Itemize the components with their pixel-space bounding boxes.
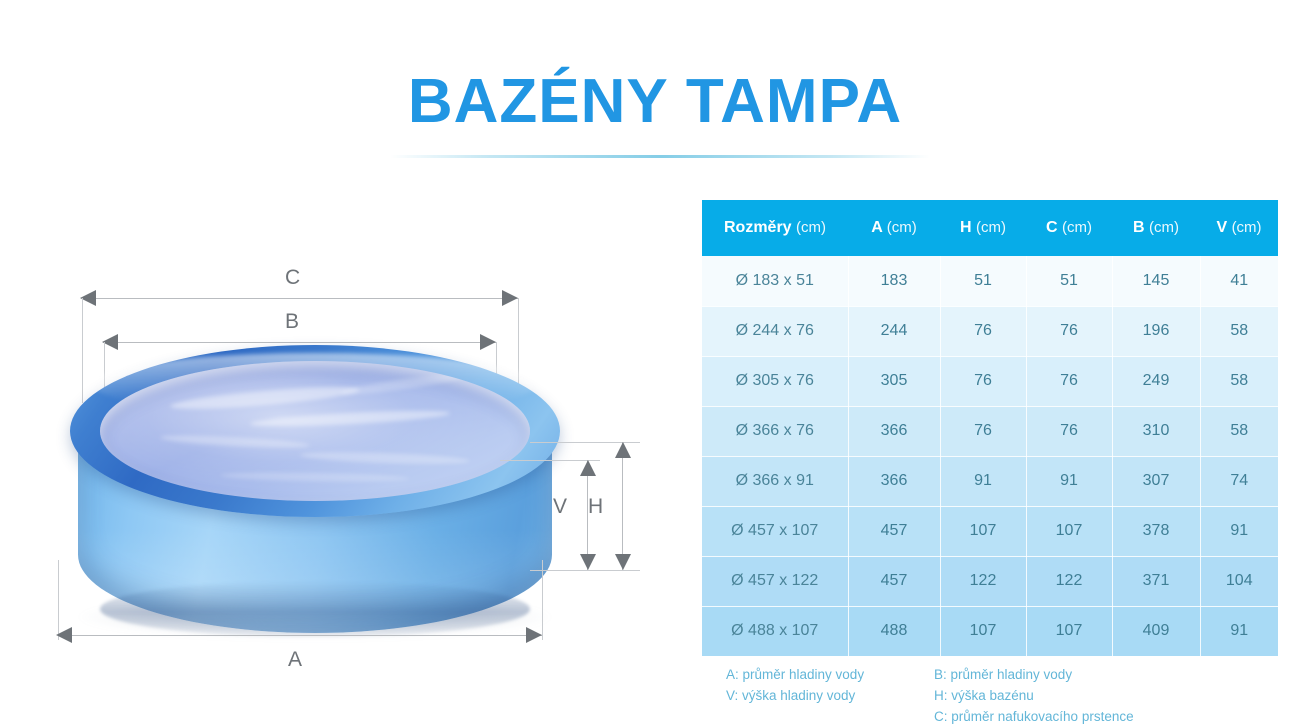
cell-a: 305: [848, 356, 940, 406]
cell-c: 51: [1026, 256, 1112, 306]
water-wave: [170, 383, 360, 414]
header-label: B: [1133, 219, 1149, 236]
dimension-arrow-v-top: [580, 460, 596, 476]
table-header-row: Rozměry (cm)A (cm)H (cm)C (cm)B (cm)V (c…: [702, 200, 1278, 256]
page-root: BAZÉNY TAMPA C B: [0, 0, 1310, 726]
water-wave: [340, 370, 470, 398]
cell-v: 58: [1200, 306, 1278, 356]
water-wave: [160, 433, 310, 450]
table-header-cell-h: H (cm): [940, 200, 1026, 256]
cell-h: 107: [940, 606, 1026, 656]
cell-v: 74: [1200, 456, 1278, 506]
dimension-arrow-h-bottom: [615, 554, 631, 570]
cell-b: 371: [1112, 556, 1200, 606]
legend-item: C: průměr nafukovacího prstence: [934, 706, 1284, 726]
table-header-cell-v: V (cm): [1200, 200, 1278, 256]
pool-illustration: [70, 345, 560, 645]
cell-a: 457: [848, 556, 940, 606]
table-header-cell-c: C (cm): [1026, 200, 1112, 256]
cell-c: 76: [1026, 356, 1112, 406]
cell-size: Ø 457 x 107: [702, 506, 848, 556]
cell-c: 122: [1026, 556, 1112, 606]
cell-b: 310: [1112, 406, 1200, 456]
legend-item: H: výška bazénu: [934, 685, 1284, 706]
cell-c: 107: [1026, 606, 1112, 656]
header-label: A: [871, 219, 886, 236]
dimension-line-c: [82, 298, 518, 299]
dimension-arrow-v-bottom: [580, 554, 596, 570]
dimension-line-a: [58, 635, 542, 636]
dimension-arrow-a-right: [526, 627, 542, 643]
header-unit: (cm): [796, 219, 826, 236]
cell-b: 409: [1112, 606, 1200, 656]
legend-item: B: průměr hladiny vody: [934, 664, 1284, 685]
table-row: Ø 488 x 10748810710740991: [702, 606, 1278, 656]
table-body: Ø 183 x 51183515114541Ø 244 x 7624476761…: [702, 256, 1278, 656]
header-label: V: [1216, 219, 1231, 236]
header-unit: (cm): [1062, 219, 1092, 236]
table-row: Ø 305 x 76305767624958: [702, 356, 1278, 406]
dimension-label-b: B: [285, 310, 300, 334]
page-title: BAZÉNY TAMPA: [0, 66, 1310, 138]
pool-dimension-diagram: C B: [30, 260, 680, 700]
dimensions-table-wrapper: Rozměry (cm)A (cm)H (cm)C (cm)B (cm)V (c…: [702, 200, 1278, 656]
cell-b: 145: [1112, 256, 1200, 306]
cell-c: 91: [1026, 456, 1112, 506]
cell-c: 76: [1026, 306, 1112, 356]
cell-v: 58: [1200, 406, 1278, 456]
cell-a: 244: [848, 306, 940, 356]
cell-v: 41: [1200, 256, 1278, 306]
cell-h: 91: [940, 456, 1026, 506]
dimension-arrow-a-left: [56, 627, 72, 643]
water-wave: [220, 471, 410, 482]
header-label: C: [1046, 219, 1062, 236]
cell-size: Ø 488 x 107: [702, 606, 848, 656]
cell-b: 307: [1112, 456, 1200, 506]
cell-b: 196: [1112, 306, 1200, 356]
table-row: Ø 183 x 51183515114541: [702, 256, 1278, 306]
cell-a: 457: [848, 506, 940, 556]
table-header-cell-rozmry: Rozměry (cm): [702, 200, 848, 256]
dimension-arrow-c-right: [502, 290, 518, 306]
legend-item: V: výška hladiny vody: [726, 685, 936, 706]
dimension-arrow-h-top: [615, 442, 631, 458]
table-row: Ø 457 x 10745710710737891: [702, 506, 1278, 556]
cell-h: 76: [940, 306, 1026, 356]
cell-v: 104: [1200, 556, 1278, 606]
cell-a: 488: [848, 606, 940, 656]
header-label: H: [960, 219, 976, 236]
cell-size: Ø 457 x 122: [702, 556, 848, 606]
cell-a: 366: [848, 456, 940, 506]
dimension-label-h: H: [588, 495, 604, 519]
dimension-label-a: A: [288, 648, 303, 672]
pool-base-rim: [100, 581, 530, 637]
cell-h: 122: [940, 556, 1026, 606]
cell-h: 76: [940, 356, 1026, 406]
dimensions-table: Rozměry (cm)A (cm)H (cm)C (cm)B (cm)V (c…: [702, 200, 1278, 656]
cell-a: 366: [848, 406, 940, 456]
extension-line-a-right: [542, 560, 543, 640]
table-row: Ø 244 x 76244767619658: [702, 306, 1278, 356]
cell-size: Ø 183 x 51: [702, 256, 848, 306]
header-unit: (cm): [1232, 219, 1262, 236]
dimension-line-h: [622, 442, 623, 570]
title-divider: [390, 155, 930, 158]
cell-size: Ø 366 x 76: [702, 406, 848, 456]
table-header-cell-b: B (cm): [1112, 200, 1200, 256]
header-unit: (cm): [1149, 219, 1179, 236]
extension-line-h-bottom: [530, 570, 640, 571]
cell-a: 183: [848, 256, 940, 306]
cell-size: Ø 305 x 76: [702, 356, 848, 406]
cell-size: Ø 366 x 91: [702, 456, 848, 506]
dimension-line-b: [104, 342, 496, 343]
dimension-label-v: V: [553, 495, 568, 519]
legend-item: A: průměr hladiny vody: [726, 664, 936, 685]
water-wave: [300, 450, 470, 466]
cell-h: 107: [940, 506, 1026, 556]
cell-v: 91: [1200, 506, 1278, 556]
cell-v: 58: [1200, 356, 1278, 406]
table-row: Ø 366 x 91366919130774: [702, 456, 1278, 506]
pool-water-surface: [100, 361, 530, 501]
header-unit: (cm): [976, 219, 1006, 236]
cell-b: 378: [1112, 506, 1200, 556]
table-row: Ø 366 x 76366767631058: [702, 406, 1278, 456]
legend-column-left: A: průměr hladiny vodyV: výška hladiny v…: [726, 664, 936, 706]
header-unit: (cm): [887, 219, 917, 236]
dimension-label-c: C: [285, 266, 301, 290]
table-row: Ø 457 x 122457122122371104: [702, 556, 1278, 606]
table-header-cell-a: A (cm): [848, 200, 940, 256]
header-label: Rozměry: [724, 219, 796, 236]
cell-h: 76: [940, 406, 1026, 456]
legend-column-right: B: průměr hladiny vodyH: výška bazénuC: …: [934, 664, 1284, 726]
cell-size: Ø 244 x 76: [702, 306, 848, 356]
cell-h: 51: [940, 256, 1026, 306]
cell-c: 76: [1026, 406, 1112, 456]
cell-b: 249: [1112, 356, 1200, 406]
cell-v: 91: [1200, 606, 1278, 656]
water-wave: [250, 408, 450, 429]
cell-c: 107: [1026, 506, 1112, 556]
